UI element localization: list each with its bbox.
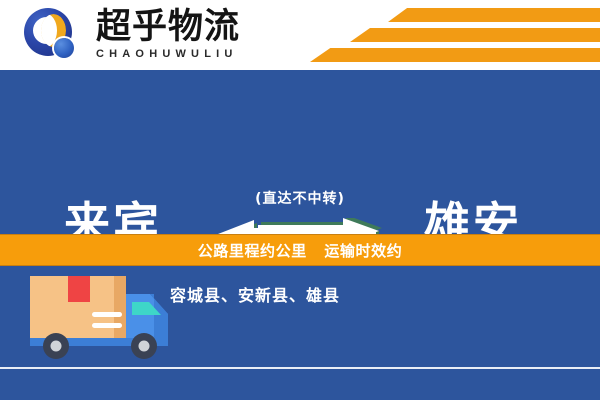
delivery-truck-icon xyxy=(28,270,188,370)
poster-header: 超乎物流 CHAOHUWULIU xyxy=(0,0,600,70)
service-area-list: 容城县、安新县、雄县 xyxy=(170,282,340,306)
chaohu-circle-logo-icon xyxy=(24,8,80,64)
brand-name-cn: 超乎物流 xyxy=(96,8,276,46)
brand-name-en: CHAOHUWULIU xyxy=(96,48,276,60)
stripe-top xyxy=(388,8,600,22)
ground-line xyxy=(0,367,600,369)
orange-speed-stripes-icon xyxy=(310,6,600,66)
brand-block: 超乎物流 CHAOHUWULIU xyxy=(96,8,276,60)
distance-duration-bar: 公路里程约公里 运输时效约 xyxy=(0,234,600,266)
stripe-middle xyxy=(350,28,600,42)
direct-shipping-note: (直达不中转) xyxy=(220,188,380,208)
route-banner: (直达不中转) 来宾 雄安 【往返运输】 xyxy=(0,70,600,234)
stripe-bottom xyxy=(310,48,600,62)
service-area-panel: 容城县、安新县、雄县 xyxy=(0,266,600,400)
logo-small-dot-icon xyxy=(54,38,74,58)
logistics-route-poster: 超乎物流 CHAOHUWULIU (直达不中转) 来宾 雄安 xyxy=(0,0,600,400)
distance-duration-text: 公路里程约公里 运输时效约 xyxy=(198,240,403,261)
